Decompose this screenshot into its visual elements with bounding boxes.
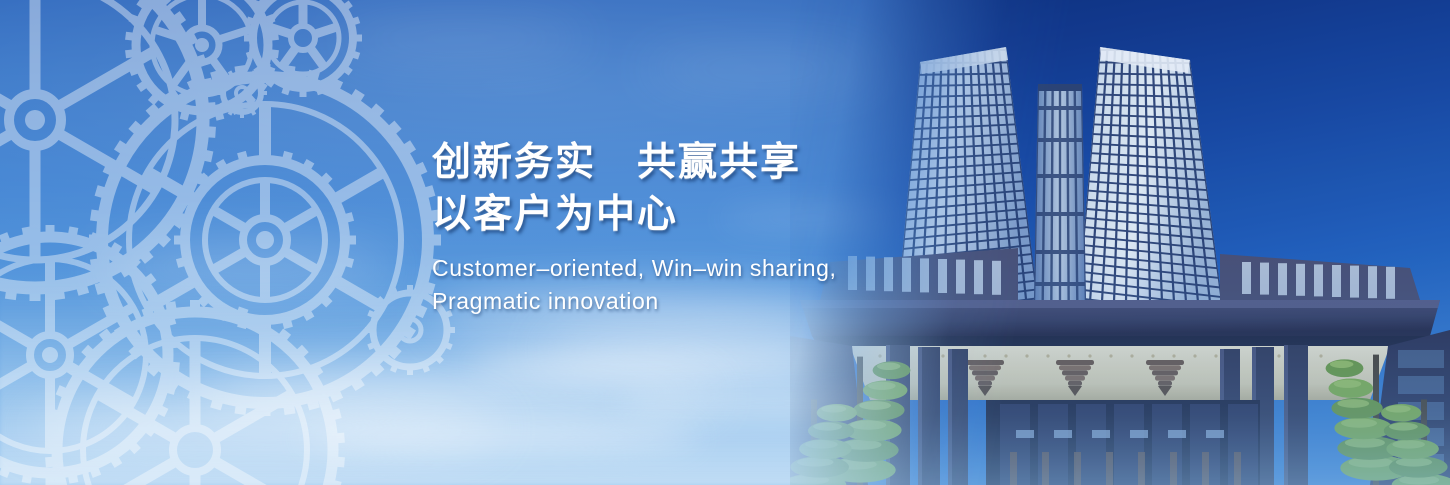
headline-line-1: 创新务实 共赢共享 (432, 140, 992, 186)
banner-copy: 创新务实 共赢共享 以客户为中心 Customer–oriented, Win–… (432, 140, 992, 317)
subtitle-line-1: Customer–oriented, Win–win sharing, (432, 252, 992, 285)
hero-banner: 创新务实 共赢共享 以客户为中心 Customer–oriented, Win–… (0, 0, 1450, 485)
subtitle-line-2: Pragmatic innovation (432, 285, 992, 318)
headline-line-2: 以客户为中心 (432, 192, 992, 238)
